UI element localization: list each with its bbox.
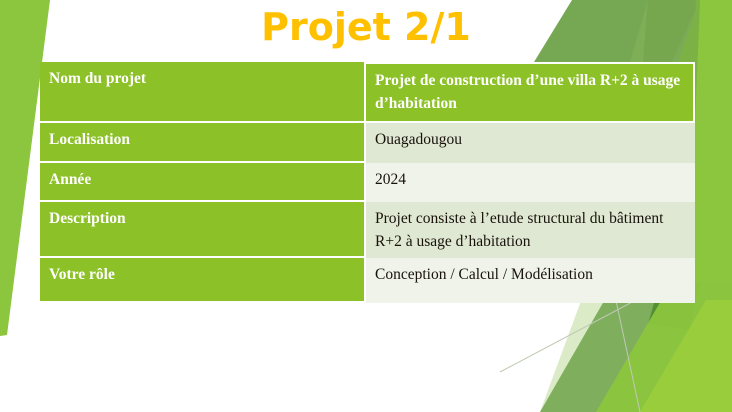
- row-label-localisation: Localisation: [40, 123, 366, 163]
- table-row: Nom du projet Projet de construction d’u…: [40, 62, 695, 123]
- row-label-annee: Année: [40, 163, 366, 202]
- table-row: Description Projet consiste à l’etude st…: [40, 202, 695, 258]
- row-value-annee: 2024: [366, 163, 695, 202]
- row-value-nom-du-projet: Projet de construction d’une villa R+2 à…: [366, 62, 695, 123]
- row-value-localisation: Ouagadougou: [366, 123, 695, 163]
- table-row: Votre rôle Conception / Calcul / Modélis…: [40, 258, 695, 303]
- row-label-nom-du-projet: Nom du projet: [40, 62, 366, 123]
- row-label-votre-role: Votre rôle: [40, 258, 366, 303]
- row-value-description: Projet consiste à l’etude structural du …: [366, 202, 695, 258]
- row-label-description: Description: [40, 202, 366, 258]
- project-info-table: Nom du projet Projet de construction d’u…: [40, 62, 695, 303]
- table-row: Localisation Ouagadougou: [40, 123, 695, 163]
- page-title: Projet 2/1: [0, 4, 732, 50]
- row-value-votre-role: Conception / Calcul / Modélisation: [366, 258, 695, 303]
- slide-canvas: Projet 2/1 Nom du projet Projet de const…: [0, 0, 732, 412]
- table-row: Année 2024: [40, 163, 695, 202]
